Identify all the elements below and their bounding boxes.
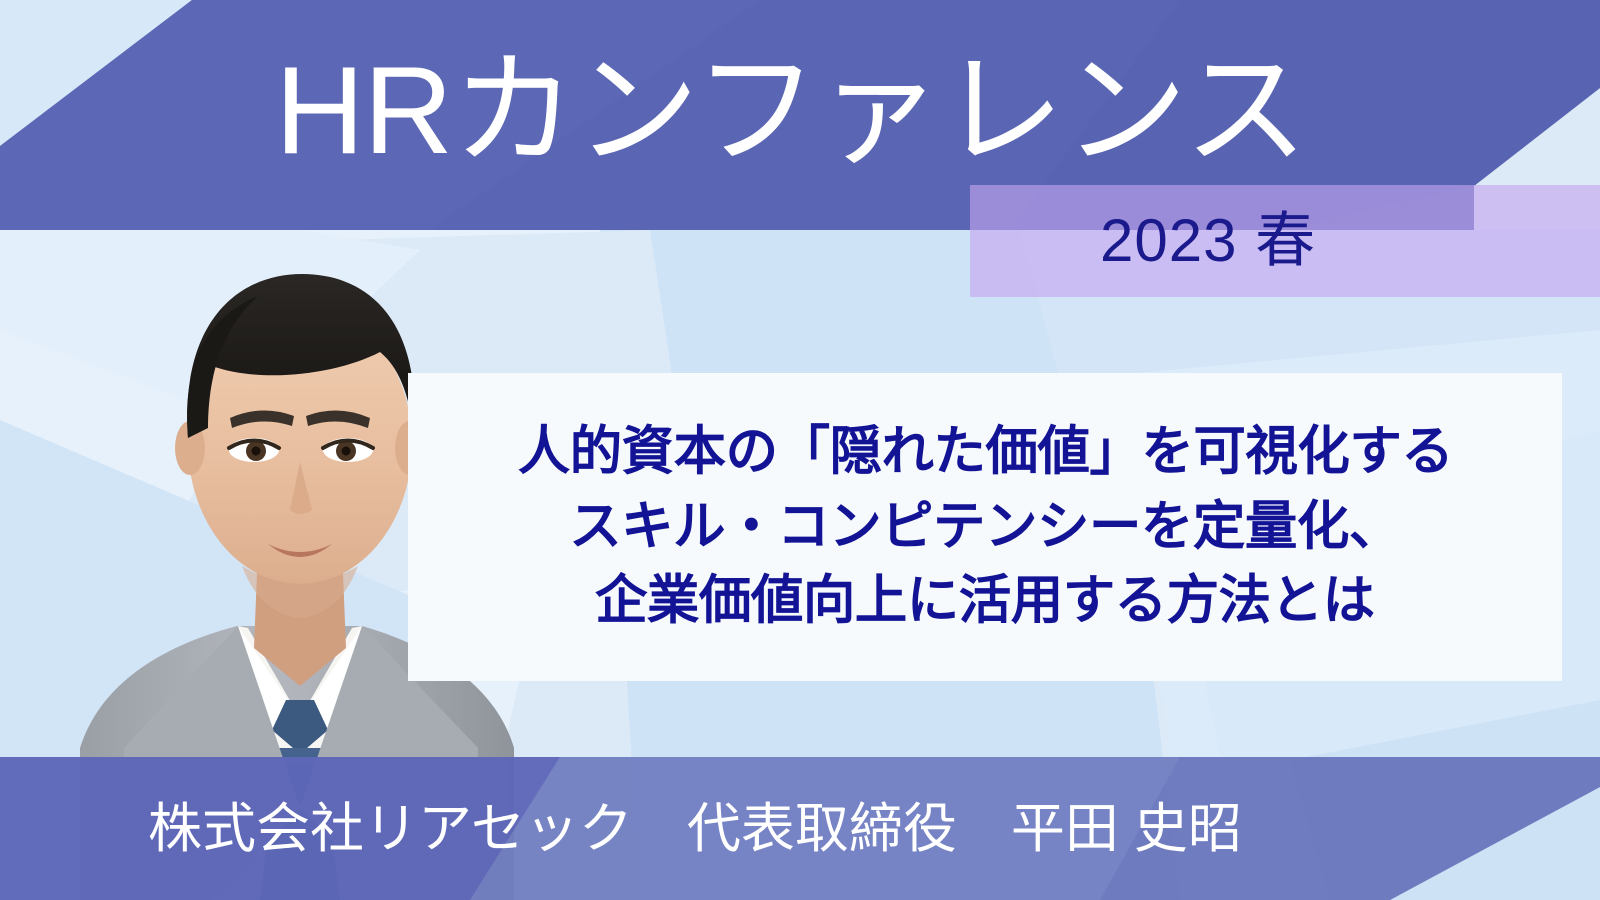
- session-title-line-2: スキル・コンピテンシーを定量化、: [569, 493, 1401, 562]
- session-title-card: 人的資本の「隠れた価値」を可視化する スキル・コンピテンシーを定量化、 企業価値…: [408, 373, 1562, 681]
- speaker-credit: 株式会社リアセック 代表取締役 平田 史昭: [148, 757, 1242, 900]
- season-badge-label: 2023 春: [1100, 211, 1316, 271]
- season-badge: 2023 春: [970, 185, 1600, 297]
- session-title-line-3: 企業価値向上に活用する方法とは: [595, 567, 1375, 636]
- conference-title: HRカンファレンス: [275, 18, 1595, 204]
- session-title-line-1: 人的資本の「隠れた価値」を可視化する: [517, 418, 1453, 487]
- slide-canvas: HRカンファレンス 2023 春 人的資本の「隠れた価値」を可視化する スキル・…: [0, 0, 1600, 900]
